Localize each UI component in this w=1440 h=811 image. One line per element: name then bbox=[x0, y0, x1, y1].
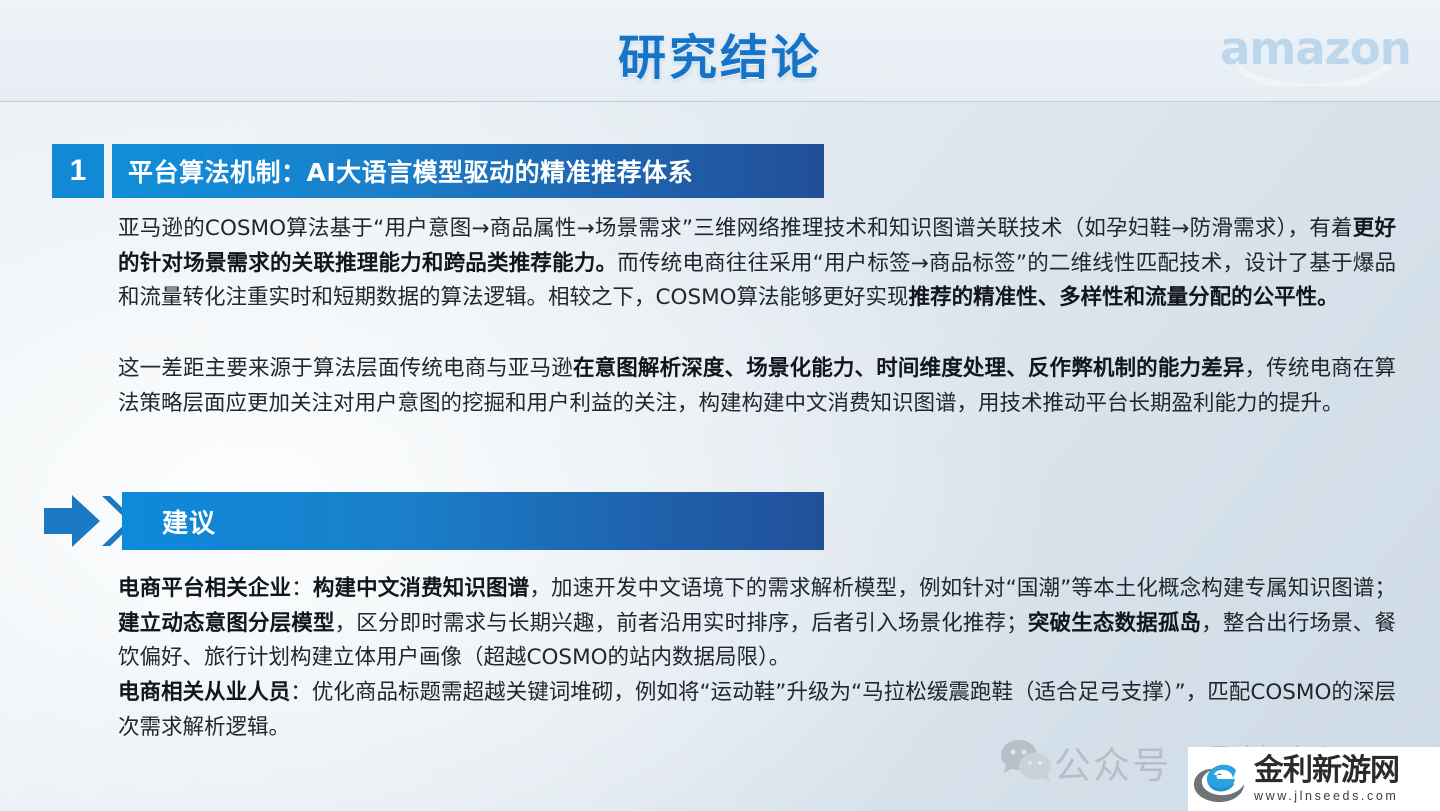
wechat-watermark-label: 公众号 bbox=[1054, 735, 1171, 789]
wechat-icon bbox=[1000, 739, 1054, 785]
amazon-logo: amazon bbox=[1208, 22, 1418, 84]
section-2-header: 建议 bbox=[44, 492, 824, 550]
site-watermark-box: 金利新游网 www.jlnseeds.com bbox=[1188, 747, 1440, 811]
slide-root: 研究结论 amazon 1 平台算法机制：AI大语言模型驱动的精准推荐体系 亚马… bbox=[0, 0, 1440, 811]
section-2-paragraph-1: 电商平台相关企业：构建中文消费知识图谱，加速开发中文语境下的需求解析模型，例如针… bbox=[118, 572, 1396, 676]
section-1-paragraph-1: 亚马逊的COSMO算法基于“用户意图→商品属性→场景需求”三维网络推理技术和知识… bbox=[118, 212, 1396, 316]
e-swoosh-logo-icon bbox=[1192, 754, 1250, 804]
section-2-title-bar: 建议 bbox=[122, 492, 824, 550]
section-1-title-bar: 平台算法机制：AI大语言模型驱动的精准推荐体系 bbox=[112, 144, 824, 198]
amazon-smile-icon bbox=[1236, 60, 1396, 86]
section-1-number: 1 bbox=[52, 144, 104, 198]
wechat-watermark: 公众号 bbox=[1000, 735, 1171, 789]
section-1-heading: 平台算法机制：AI大语言模型驱动的精准推荐体系 bbox=[128, 153, 693, 189]
site-url: www.jlnseeds.com bbox=[1254, 788, 1399, 804]
slide-header: 研究结论 amazon bbox=[0, 0, 1440, 102]
section-1-header: 1 平台算法机制：AI大语言模型驱动的精准推荐体系 bbox=[52, 144, 824, 198]
site-watermark-text: 金利新游网 www.jlnseeds.com bbox=[1254, 754, 1399, 804]
section-1-paragraph-2: 这一差距主要来源于算法层面传统电商与亚马逊在意图解析深度、场景化能力、时间维度处… bbox=[118, 352, 1396, 421]
section-2-heading: 建议 bbox=[162, 503, 216, 540]
site-name: 金利新游网 bbox=[1254, 754, 1399, 788]
